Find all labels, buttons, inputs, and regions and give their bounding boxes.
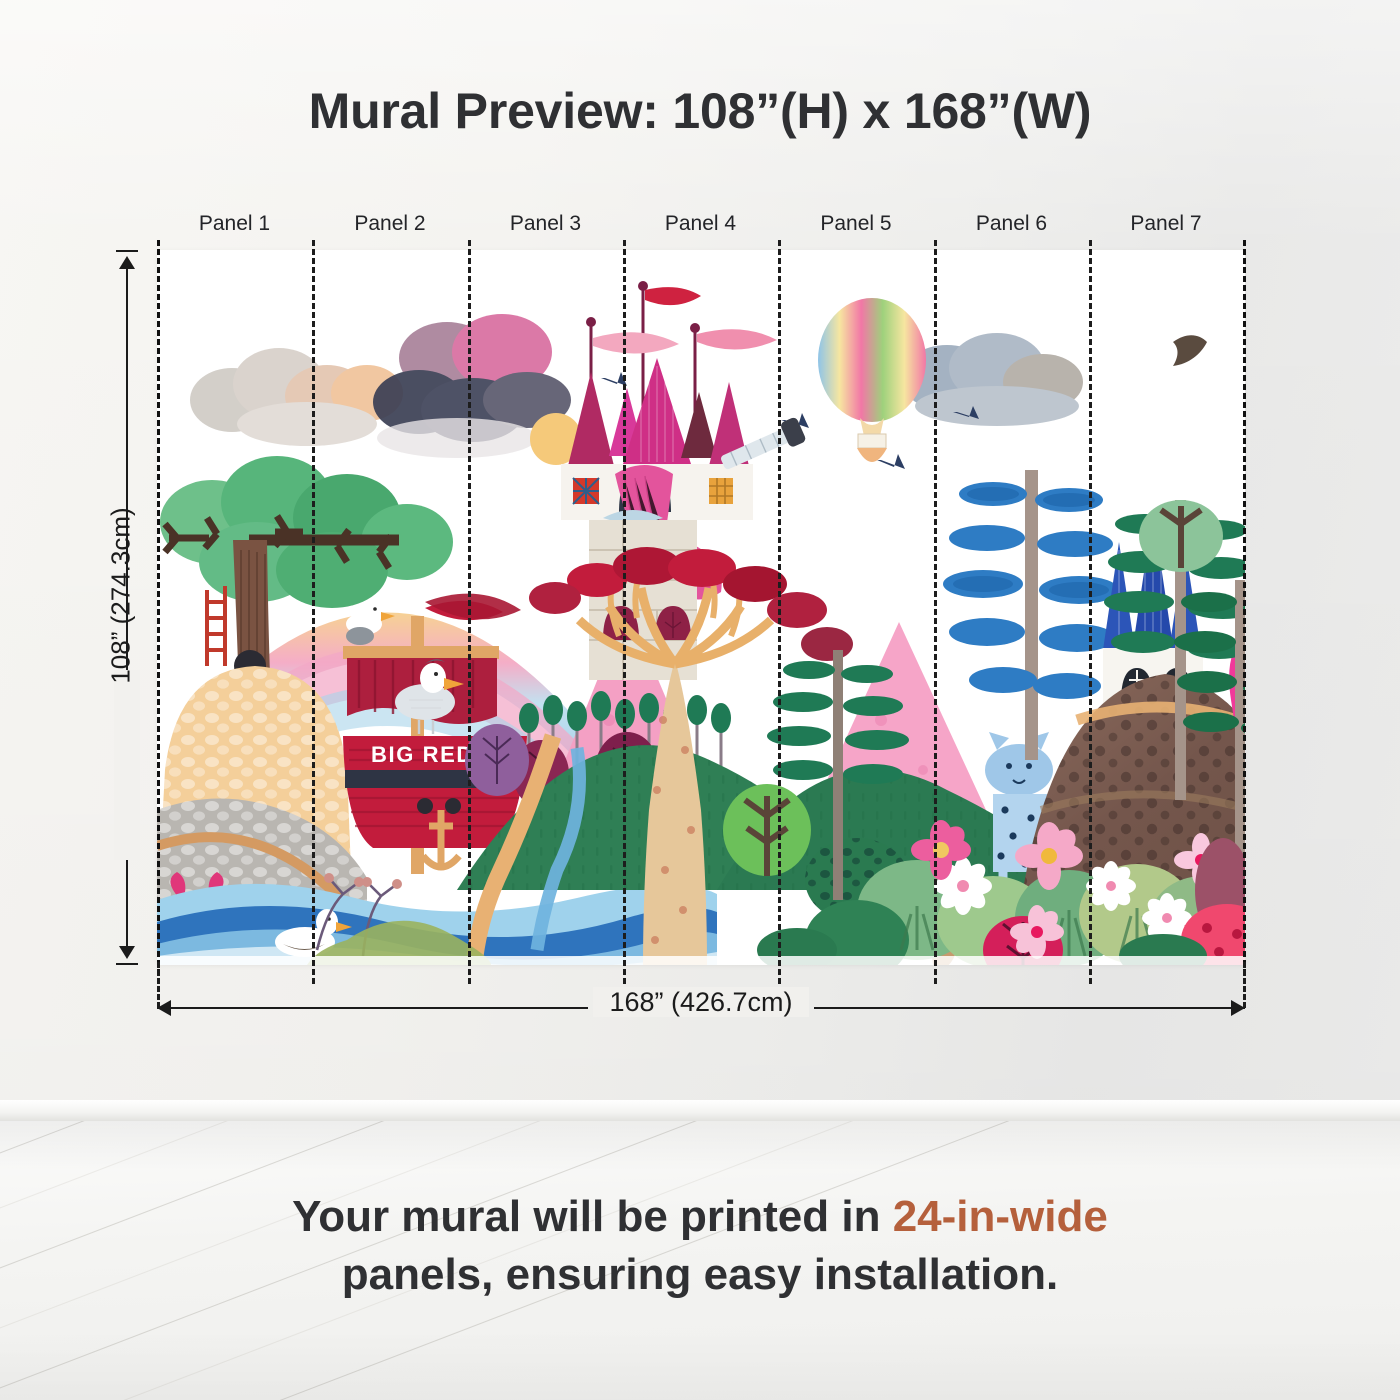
caption-line-1: Your mural will be printed in 24-in-wide (0, 1188, 1400, 1246)
mural-preview[interactable]: BIG RED (157, 250, 1245, 965)
panel-divider-3 (623, 240, 626, 984)
caption-line-2: panels, ensuring easy installation. (0, 1246, 1400, 1304)
panel-label-2: Panel 2 (320, 212, 460, 236)
page-title: Mural Preview: 108”(H) x 168”(W) (0, 82, 1400, 140)
mural-artwork: BIG RED (157, 250, 1245, 965)
width-label: 168” (426.7cm) (593, 987, 808, 1017)
caption-pre: Your mural will be printed in (292, 1192, 893, 1241)
panel-divider-right-edge (1243, 240, 1246, 984)
mural-illustration: BIG RED (157, 250, 1245, 965)
footer-caption: Your mural will be printed in 24-in-wide… (0, 1188, 1400, 1304)
height-arrow-up (119, 256, 135, 269)
panel-label-row: Panel 1Panel 2Panel 3Panel 4Panel 5Panel… (157, 212, 1245, 244)
panel-label-7: Panel 7 (1096, 212, 1236, 236)
width-tick-right (1243, 962, 1246, 1008)
panel-label-4: Panel 4 (631, 212, 771, 236)
height-arrow-down (119, 946, 135, 959)
height-cap-top (116, 250, 138, 252)
baseboard (0, 1100, 1400, 1122)
caption-highlight: 24-in-wide (893, 1192, 1108, 1241)
height-label: 108” (274.3cm) (106, 336, 137, 856)
panel-divider-5 (934, 240, 937, 984)
panel-label-6: Panel 6 (942, 212, 1082, 236)
panel-divider-left-edge (157, 240, 160, 984)
panel-label-5: Panel 5 (786, 212, 926, 236)
height-cap-bottom (116, 963, 138, 965)
panel-divider-2 (468, 240, 471, 984)
panel-divider-6 (1089, 240, 1092, 984)
panel-divider-1 (312, 240, 315, 984)
panel-label-1: Panel 1 (165, 212, 305, 236)
height-dimension: 108” (274.3cm) (104, 250, 150, 965)
width-tick-left (157, 962, 160, 1008)
width-dimension: 168” (426.7cm) (157, 985, 1245, 1031)
panel-label-3: Panel 3 (476, 212, 616, 236)
ship-name-text: BIG RED (371, 742, 474, 767)
panel-divider-4 (778, 240, 781, 984)
width-label-wrap: 168” (426.7cm) (157, 987, 1245, 1018)
